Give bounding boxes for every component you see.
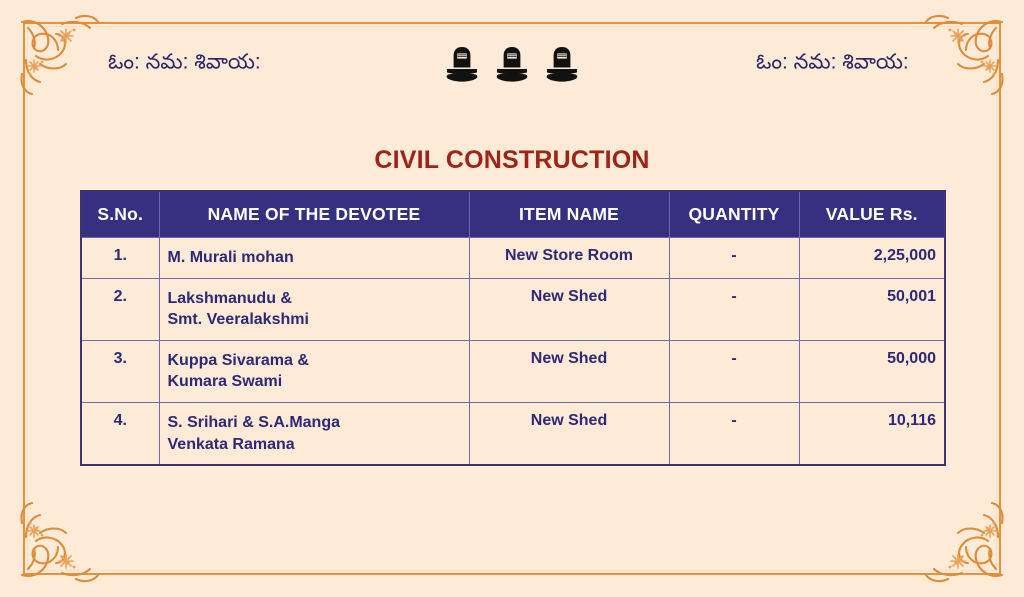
shiva-lingam-group bbox=[444, 44, 580, 86]
cell-name-line1: M. Murali mohan bbox=[168, 247, 461, 269]
cell-quantity: - bbox=[669, 278, 799, 340]
cell-value: 50,000 bbox=[799, 340, 945, 402]
cell-name: M. Murali mohan bbox=[159, 238, 469, 279]
column-header-value: VALUE Rs. bbox=[799, 191, 945, 238]
table-row: 4. S. Srihari & S.A.Manga Venkata Ramana… bbox=[81, 402, 945, 465]
column-header-sno: S.No. bbox=[81, 191, 159, 238]
column-header-quantity: QUANTITY bbox=[669, 191, 799, 238]
cell-value: 2,25,000 bbox=[799, 238, 945, 279]
floral-corner-ornament-icon bbox=[6, 497, 102, 593]
cell-name-line1: Lakshmanudu & bbox=[168, 288, 461, 310]
column-header-name: NAME OF THE DEVOTEE bbox=[159, 191, 469, 238]
shiva-lingam-icon bbox=[444, 44, 480, 86]
cell-sno: 1. bbox=[81, 238, 159, 279]
mantra-text-right: ఓం: నమ: శివాయ: bbox=[756, 51, 909, 80]
cell-name-line2: Venkata Ramana bbox=[168, 434, 461, 456]
page-title: CIVIL CONSTRUCTION bbox=[0, 146, 1024, 175]
cell-sno: 2. bbox=[81, 278, 159, 340]
cell-value: 10,116 bbox=[799, 402, 945, 465]
table-header-row: S.No. NAME OF THE DEVOTEE ITEM NAME QUAN… bbox=[81, 191, 945, 238]
table-row: 2. Lakshmanudu & Smt. Veeralakshmi New S… bbox=[81, 278, 945, 340]
cell-sno: 4. bbox=[81, 402, 159, 465]
shiva-lingam-icon bbox=[544, 44, 580, 86]
mantra-text-left: ఓం: నమ: శివాయ: bbox=[108, 51, 261, 80]
shiva-lingam-icon bbox=[494, 44, 530, 86]
donations-table-wrapper: S.No. NAME OF THE DEVOTEE ITEM NAME QUAN… bbox=[80, 190, 944, 466]
column-header-item: ITEM NAME bbox=[469, 191, 669, 238]
cell-name: Lakshmanudu & Smt. Veeralakshmi bbox=[159, 278, 469, 340]
cell-item: New Shed bbox=[469, 278, 669, 340]
cell-name: Kuppa Sivarama & Kumara Swami bbox=[159, 340, 469, 402]
cell-sno: 3. bbox=[81, 340, 159, 402]
cell-name-line1: Kuppa Sivarama & bbox=[168, 350, 461, 372]
floral-corner-ornament-icon bbox=[922, 497, 1018, 593]
cell-name: S. Srihari & S.A.Manga Venkata Ramana bbox=[159, 402, 469, 465]
cell-name-line2: Kumara Swami bbox=[168, 371, 461, 393]
table-row: 3. Kuppa Sivarama & Kumara Swami New She… bbox=[81, 340, 945, 402]
cell-item: New Shed bbox=[469, 402, 669, 465]
donations-table: S.No. NAME OF THE DEVOTEE ITEM NAME QUAN… bbox=[80, 190, 946, 466]
cell-name-line2: Smt. Veeralakshmi bbox=[168, 309, 461, 331]
cell-quantity: - bbox=[669, 402, 799, 465]
cell-name-line1: S. Srihari & S.A.Manga bbox=[168, 412, 461, 434]
cell-value: 50,001 bbox=[799, 278, 945, 340]
cell-item: New Shed bbox=[469, 340, 669, 402]
cell-quantity: - bbox=[669, 238, 799, 279]
cell-item: New Store Room bbox=[469, 238, 669, 279]
header-band: ఓం: నమ: శివాయ: bbox=[0, 42, 1024, 88]
cell-quantity: - bbox=[669, 340, 799, 402]
table-row: 1. M. Murali mohan New Store Room - 2,25… bbox=[81, 238, 945, 279]
